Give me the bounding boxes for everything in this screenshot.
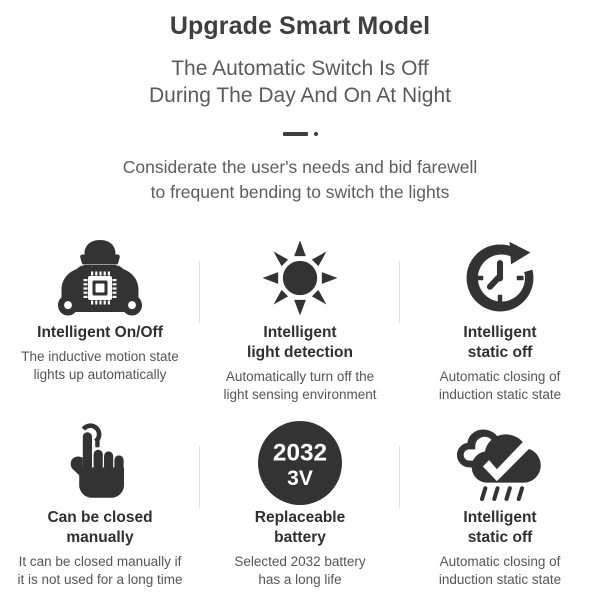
feature-grid: Intelligent On/Off The inductive motion … (0, 235, 600, 605)
feature-title-line-1: Intelligent (463, 508, 536, 528)
feature-desc-line-2: lights up automatically (21, 366, 179, 384)
feature-desc-line-2: induction static state (439, 571, 561, 589)
feature-description: The inductive motion state lights up aut… (21, 348, 179, 384)
feature-description: It can be closed manually if it is not u… (17, 553, 182, 589)
feature-desc-line-1: The inductive motion state (21, 348, 179, 366)
feature-title: Intelligent light detection (247, 323, 353, 363)
feature-light-detection: Intelligent light detection Automaticall… (200, 235, 400, 420)
battery-model-label: 2032 (273, 439, 327, 466)
feature-title: Replaceable battery (255, 508, 345, 548)
feature-desc-line-2: has a long life (234, 571, 365, 589)
subtitle: The Automatic Switch Is Off During The D… (0, 55, 600, 110)
divider-dot-icon (314, 132, 318, 136)
divider (0, 127, 600, 141)
tagline-line-2: to frequent bending to switch the lights (0, 180, 600, 205)
header-section: Upgrade Smart Model The Automatic Switch… (0, 0, 600, 205)
feature-static-off-clock: Intelligent static off Automatic closing… (400, 235, 600, 420)
product-feature-infographic: Upgrade Smart Model The Automatic Switch… (0, 0, 600, 600)
feature-desc-line-1: Automatically turn off the (223, 368, 376, 386)
sun-icon (261, 235, 339, 321)
divider-dash-icon (283, 132, 308, 136)
battery-voltage-label: 3V (287, 466, 313, 489)
tagline-line-1: Considerate the user's needs and bid far… (0, 155, 600, 180)
feature-intelligent-on-off: Intelligent On/Off The inductive motion … (0, 235, 200, 420)
feature-static-off-weather: Intelligent static off Automatic closing… (400, 420, 600, 605)
subtitle-line-1: The Automatic Switch Is Off (0, 55, 600, 83)
hand-tap-icon (60, 420, 140, 506)
feature-title-line-1: Can be closed (47, 508, 152, 528)
tagline: Considerate the user's needs and bid far… (0, 155, 600, 205)
feature-description: Automatic closing of induction static st… (439, 368, 561, 404)
feature-title-line-2: manually (47, 528, 152, 548)
feature-desc-line-1: It can be closed manually if (17, 553, 182, 571)
feature-desc-line-1: Selected 2032 battery (234, 553, 365, 571)
feature-desc-line-2: it is not used for a long time (17, 571, 182, 589)
feature-desc-line-2: light sensing environment (223, 386, 376, 404)
feature-title: Can be closed manually (47, 508, 152, 548)
feature-description: Automatically turn off the light sensing… (223, 368, 376, 404)
feature-title-line-1: Replaceable (255, 508, 345, 528)
subtitle-line-2: During The Day And On At Night (0, 82, 600, 110)
feature-title-line-2: light detection (247, 343, 353, 363)
robot-chip-icon (54, 235, 146, 321)
feature-description: Automatic closing of induction static st… (439, 553, 561, 589)
coin-battery-icon: 2032 3V (258, 420, 342, 506)
feature-desc-line-1: Automatic closing of (439, 368, 561, 386)
cloud-check-rain-icon (455, 420, 545, 506)
feature-title-line-2: static off (463, 528, 536, 548)
feature-replaceable-battery: 2032 3V Replaceable battery Selected 203… (200, 420, 400, 605)
page-title: Upgrade Smart Model (0, 10, 600, 43)
feature-title-line-1: Intelligent (247, 323, 353, 343)
feature-title: Intelligent static off (463, 508, 536, 548)
feature-title-line-1: Intelligent On/Off (37, 323, 163, 343)
feature-desc-line-2: induction static state (439, 386, 561, 404)
feature-title-line-2: battery (255, 528, 345, 548)
feature-title-line-1: Intelligent (463, 323, 536, 343)
feature-manual-close: Can be closed manually It can be closed … (0, 420, 200, 605)
feature-title-line-2: static off (463, 343, 536, 363)
feature-description: Selected 2032 battery has a long life (234, 553, 365, 589)
feature-title: Intelligent On/Off (37, 323, 163, 343)
feature-desc-line-1: Automatic closing of (439, 553, 561, 571)
feature-title: Intelligent static off (463, 323, 536, 363)
clock-arrow-icon (462, 235, 538, 321)
